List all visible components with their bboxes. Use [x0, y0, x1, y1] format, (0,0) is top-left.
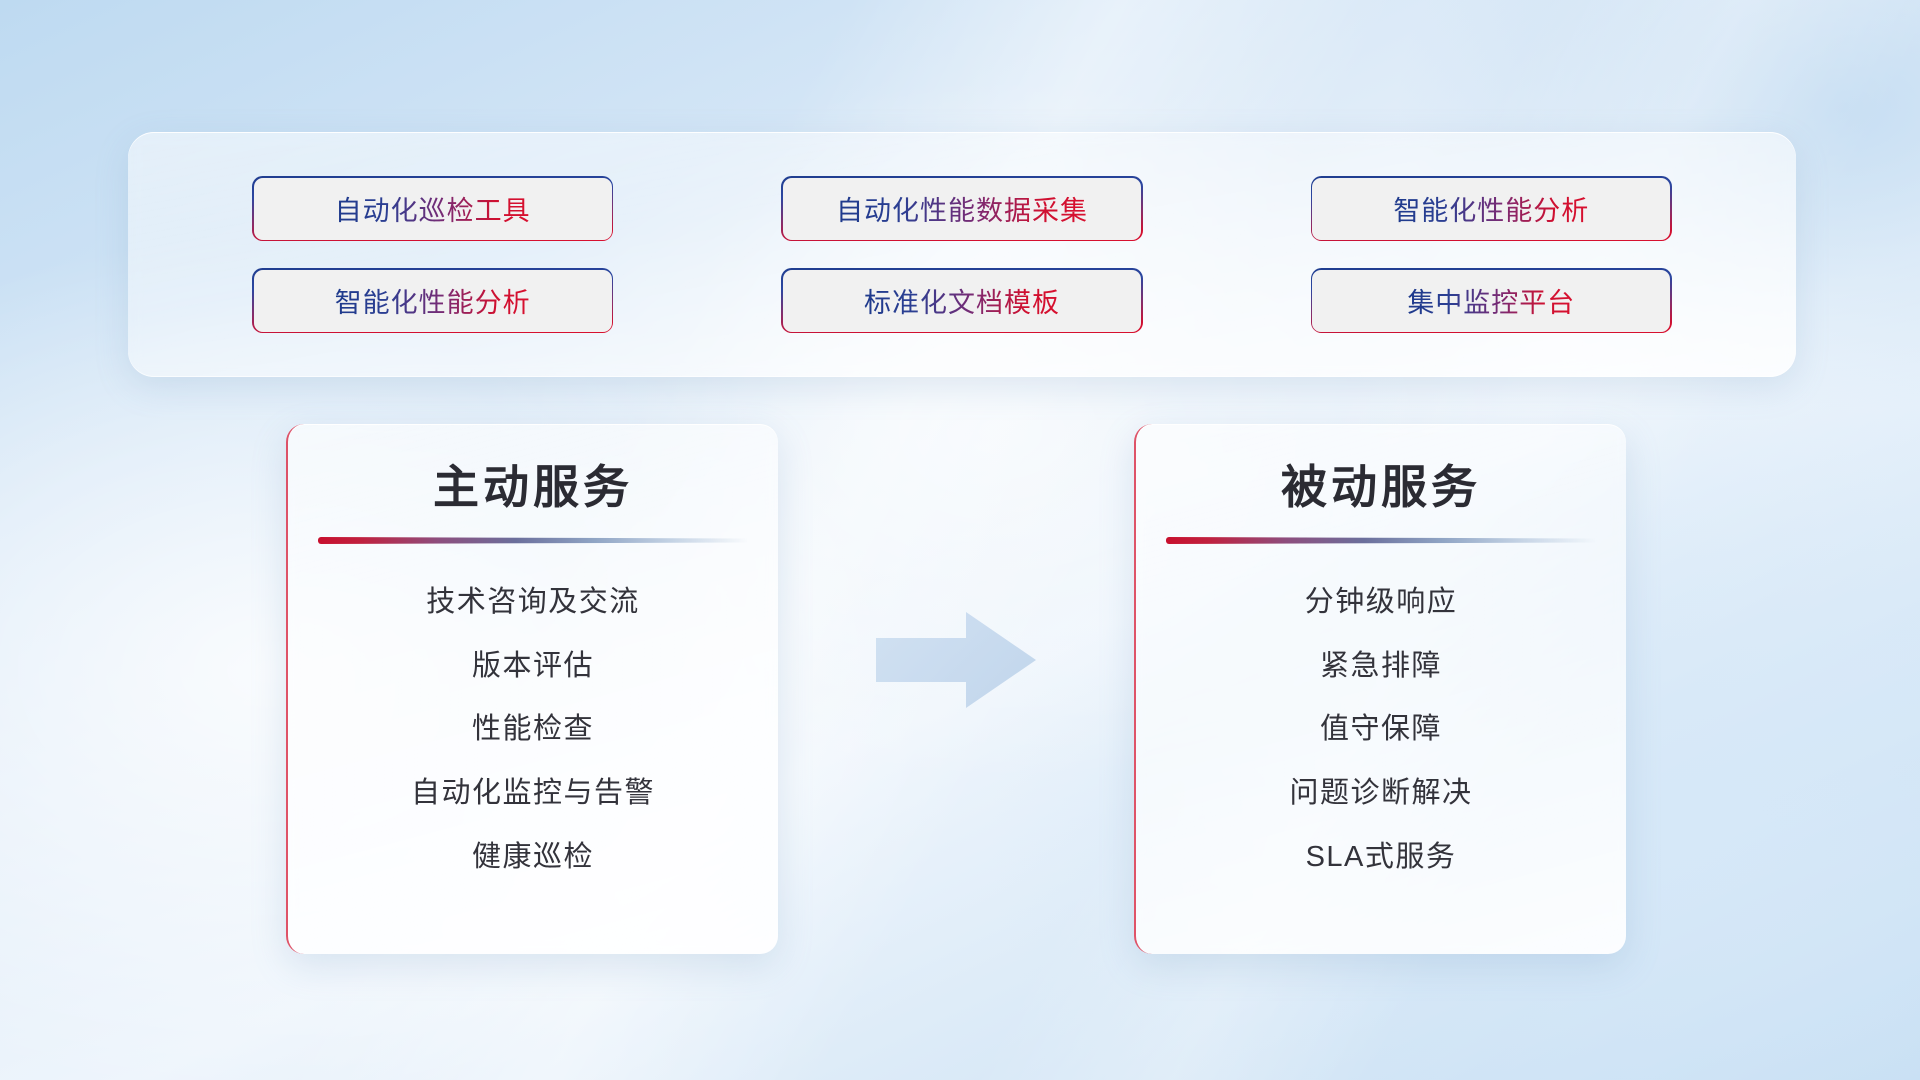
service-card-reactive: 被动服务 分钟级响应 紧急排障 值守保障 问题诊断解决 SLA式服务: [1134, 424, 1626, 954]
capabilities-row-2: 智能化性能分析 标准化文档模板 集中监控平台: [168, 270, 1756, 332]
list-item: 性能检查: [472, 711, 594, 749]
capability-pill-3[interactable]: 智能化性能分析: [1312, 178, 1670, 240]
capability-pill-6-label: 集中监控平台: [1407, 281, 1575, 320]
list-item: 自动化监控与告警: [411, 775, 655, 813]
service-card-proactive-list: 技术咨询及交流 版本评估 性能检查 自动化监控与告警 健康巡检: [318, 584, 748, 876]
capability-pill-3-label: 智能化性能分析: [1393, 189, 1589, 228]
list-item: 问题诊断解决: [1289, 775, 1472, 813]
list-item: 紧急排障: [1320, 648, 1442, 686]
capabilities-panel: 自动化巡检工具 自动化性能数据采集 智能化性能分析 智能化性能分析 标准化文档模…: [128, 132, 1796, 377]
service-card-proactive: 主动服务 技术咨询及交流 版本评估 性能检查 自动化监控与告警 健康巡检: [286, 424, 778, 954]
service-card-reactive-title: 被动服务: [1281, 464, 1481, 510]
list-item: 版本评估: [472, 648, 594, 686]
capability-pill-5[interactable]: 标准化文档模板: [783, 270, 1141, 332]
arrow-right-icon: [876, 612, 1036, 708]
list-item: 值守保障: [1320, 711, 1442, 749]
list-item: 健康巡检: [472, 839, 594, 877]
card-divider: [318, 537, 748, 544]
capability-pill-6[interactable]: 集中监控平台: [1312, 270, 1670, 332]
capabilities-row-1: 自动化巡检工具 自动化性能数据采集 智能化性能分析: [168, 178, 1756, 240]
capability-pill-4[interactable]: 智能化性能分析: [254, 270, 612, 332]
list-item: 分钟级响应: [1305, 584, 1458, 622]
service-card-proactive-title: 主动服务: [433, 464, 633, 510]
capability-pill-5-label: 标准化文档模板: [864, 281, 1060, 320]
card-divider: [1166, 537, 1596, 544]
capability-pill-2[interactable]: 自动化性能数据采集: [783, 178, 1141, 240]
slide-canvas: 自动化巡检工具 自动化性能数据采集 智能化性能分析 智能化性能分析 标准化文档模…: [0, 0, 1920, 1080]
capability-pill-4-label: 智能化性能分析: [335, 281, 531, 320]
capability-pill-2-label: 自动化性能数据采集: [836, 189, 1088, 228]
list-item: 技术咨询及交流: [426, 584, 640, 622]
service-card-reactive-list: 分钟级响应 紧急排障 值守保障 问题诊断解决 SLA式服务: [1166, 584, 1596, 876]
capability-pill-1-label: 自动化巡检工具: [335, 189, 531, 228]
capability-pill-1[interactable]: 自动化巡检工具: [254, 178, 612, 240]
list-item: SLA式服务: [1306, 839, 1457, 877]
